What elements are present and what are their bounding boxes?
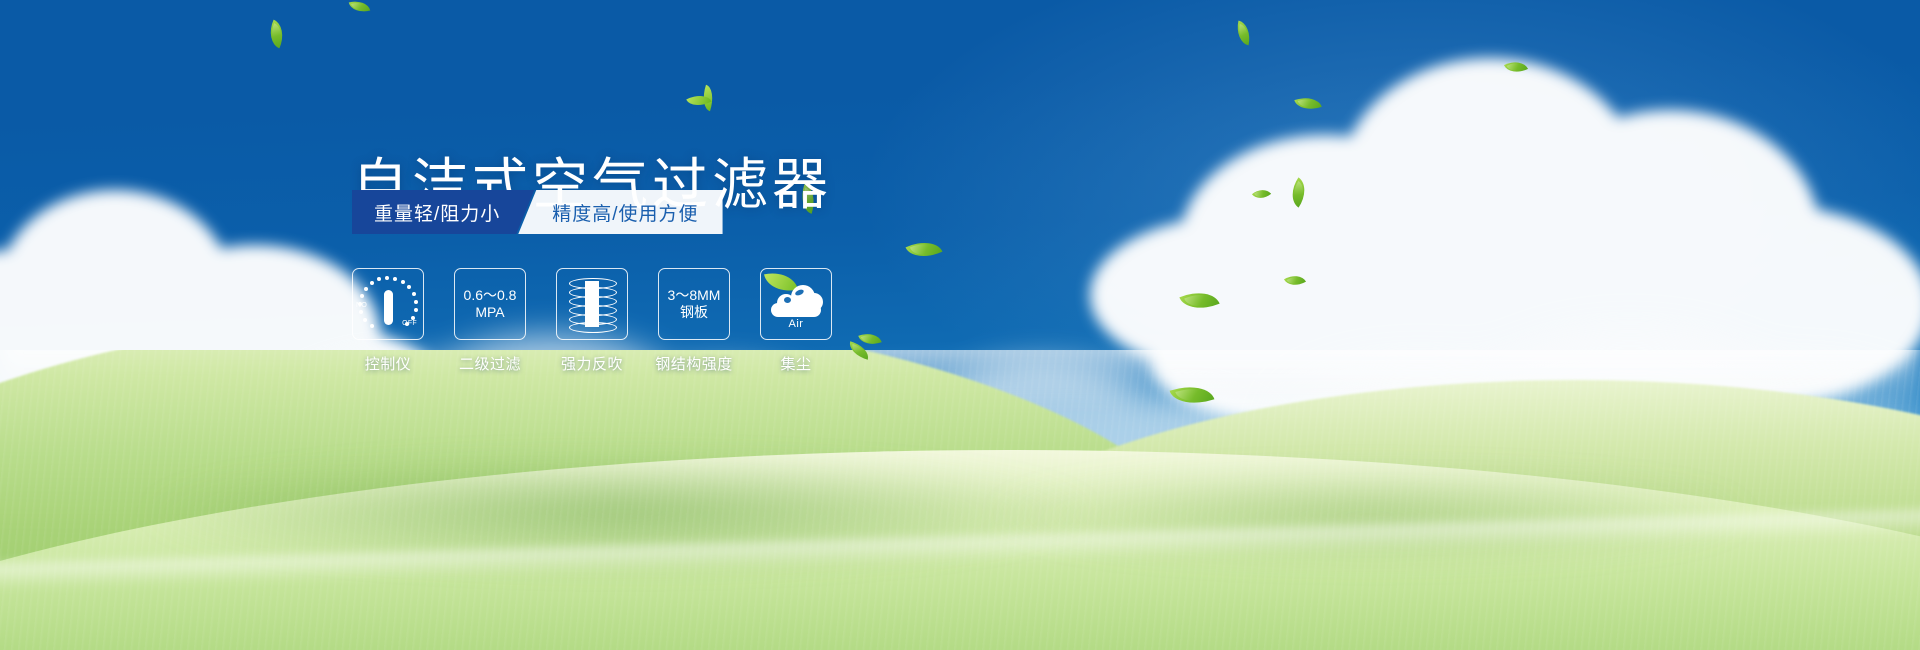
pressure-line-1: 0.6～0.8 bbox=[464, 287, 517, 304]
feature-label: 集尘 bbox=[780, 353, 811, 374]
feature-label: 二级过滤 bbox=[459, 353, 521, 374]
steel-line-2: 钢板 bbox=[668, 304, 721, 321]
feature-label: 钢结构强度 bbox=[655, 353, 733, 374]
feature-item-controller[interactable]: NO OFF 控制仪 bbox=[352, 268, 424, 374]
feature-item-blowback[interactable]: 强力反吹 bbox=[556, 268, 628, 374]
feature-item-dust[interactable]: Air 集尘 bbox=[760, 268, 832, 374]
coil-blowback-icon bbox=[569, 278, 615, 330]
feature-list: NO OFF 控制仪 0.6～0.8 MPA 二级过滤 bbox=[352, 268, 832, 374]
feature-box: 0.6～0.8 MPA bbox=[454, 268, 526, 340]
gauge-icon: NO OFF bbox=[357, 275, 419, 333]
gauge-label-off: OFF bbox=[402, 320, 417, 327]
feature-item-filter[interactable]: 0.6～0.8 MPA 二级过滤 bbox=[454, 268, 526, 374]
feature-label: 控制仪 bbox=[365, 353, 412, 374]
banner: 自洁式空气过滤器 重量轻/阻力小 精度高/使用方便 bbox=[0, 0, 1920, 650]
air-cloud-icon: Air bbox=[769, 281, 823, 327]
steel-plate-text-icon: 3～8MM 钢板 bbox=[668, 287, 721, 321]
feature-box: 3～8MM 钢板 bbox=[658, 268, 730, 340]
tag-precision[interactable]: 精度高/使用方便 bbox=[518, 190, 722, 234]
air-label: Air bbox=[769, 318, 823, 330]
tag-group: 重量轻/阻力小 精度高/使用方便 bbox=[352, 190, 723, 234]
feature-box: NO OFF bbox=[352, 268, 424, 340]
feature-label: 强力反吹 bbox=[561, 353, 623, 374]
feature-box bbox=[556, 268, 628, 340]
feature-box: Air bbox=[760, 268, 832, 340]
feature-item-steel[interactable]: 3～8MM 钢板 钢结构强度 bbox=[658, 268, 730, 374]
tag-lightweight[interactable]: 重量轻/阻力小 bbox=[352, 190, 534, 234]
pressure-line-2: MPA bbox=[464, 304, 517, 321]
steel-line-1: 3～8MM bbox=[668, 287, 721, 304]
banner-content: 自洁式空气过滤器 重量轻/阻力小 精度高/使用方便 bbox=[0, 0, 1920, 650]
pressure-text-icon: 0.6～0.8 MPA bbox=[464, 287, 517, 321]
gauge-label-no: NO bbox=[356, 302, 367, 309]
title-leaf-icon bbox=[686, 86, 732, 120]
